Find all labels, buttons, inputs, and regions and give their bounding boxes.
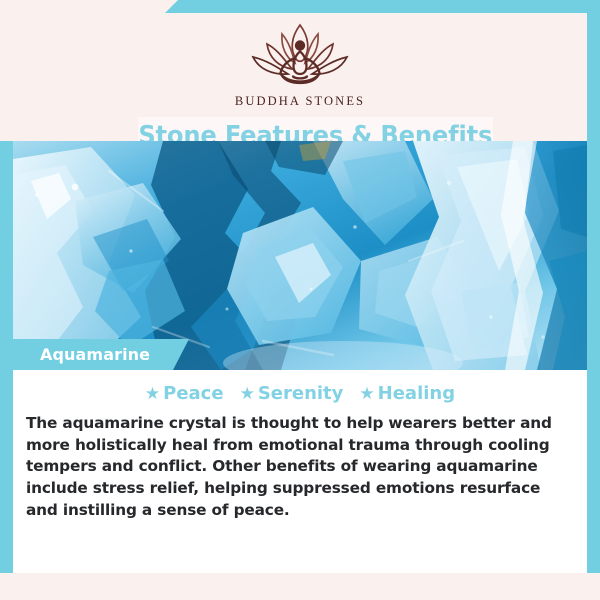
feature-list: ★Peace★Serenity★Healing	[13, 383, 587, 404]
card-header: BUDDHA STONES Stone Features & Benefits	[13, 13, 587, 141]
feature-item-healing: ★Healing	[359, 383, 455, 404]
right-accent-bar	[587, 0, 600, 600]
feature-item-serenity: ★Serenity	[240, 383, 344, 404]
feature-label: Peace	[163, 383, 223, 404]
stone-description: The aquamarine crystal is thought to hel…	[26, 413, 574, 522]
aquamarine-crystal-photo	[13, 141, 587, 370]
lotus-meditation-figure-icon	[238, 17, 362, 93]
star-icon: ★	[359, 384, 374, 404]
brand-name: BUDDHA STONES	[13, 94, 587, 109]
star-icon: ★	[240, 384, 255, 404]
feature-item-peace: ★Peace	[145, 383, 224, 404]
crystal-photo-graphic	[13, 141, 587, 370]
stone-details-panel: ★Peace★Serenity★Healing The aquamarine c…	[13, 370, 587, 573]
footer-background	[0, 573, 600, 600]
left-accent-bar	[0, 141, 13, 573]
star-icon: ★	[145, 384, 160, 404]
feature-label: Serenity	[258, 383, 344, 404]
stone-name-banner: Aquamarine	[13, 339, 189, 370]
top-accent-bar	[165, 0, 600, 13]
feature-label: Healing	[378, 383, 455, 404]
stone-name-label: Aquamarine	[13, 345, 150, 364]
brand-logo: BUDDHA STONES	[13, 17, 587, 109]
stone-info-card: BUDDHA STONES Stone Features & Benefits	[0, 0, 600, 600]
